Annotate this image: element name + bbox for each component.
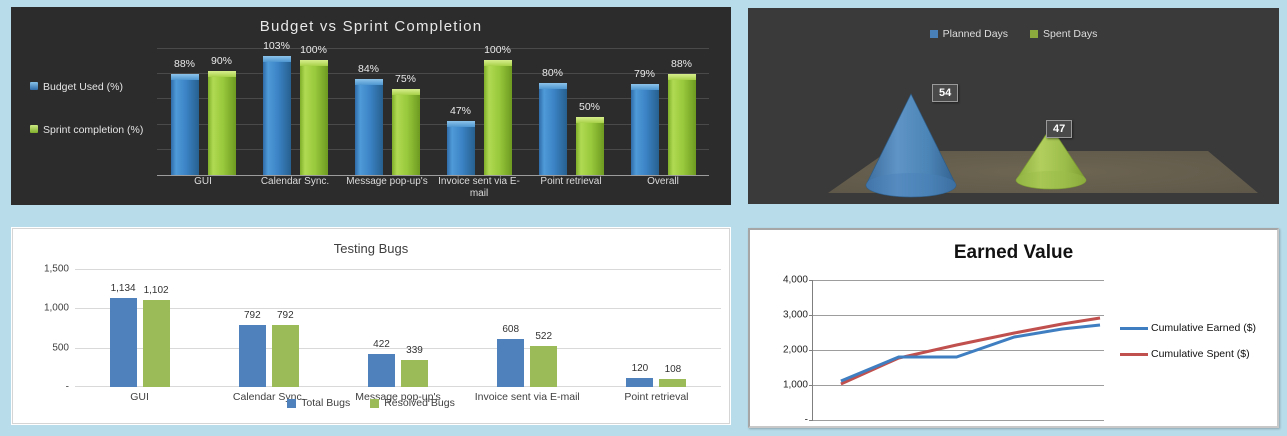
bar-value-label: 522 [535,331,552,342]
bars-budget-vs-sprint: 88% 90% 103% 100% [157,48,709,176]
bars-testing-bugs: 1,134 1,102 792 792 422 [75,269,721,387]
bar-resolved-bugs-calendar-sync[interactable]: 792 [272,325,299,387]
plot-area-budget-vs-sprint: 88% 90% 103% 100% [157,48,709,176]
bar-sprint-completion-message-popups[interactable]: 75% [392,89,420,176]
legend-label-resolved-bugs: Resolved Bugs [384,397,455,409]
legend-label-total-bugs: Total Bugs [301,397,350,409]
bar-budget-used-gui[interactable]: 88% [171,74,199,176]
bar-group-message-popups: 84% 75% [341,48,433,176]
legend-label-budget-used: Budget Used (%) [43,80,123,95]
y-axis-labels-testing-bugs: 1,500 1,000 500 - [21,269,69,387]
chart-title-earned-value: Earned Value [750,230,1277,264]
y-axis-tick: 1,500 [44,264,69,275]
bar-value-label: 88% [671,58,692,70]
chart-panel-earned-value: Earned Value 4,000 3,000 2,000 1,000 - [748,228,1279,428]
legend-item-budget-used[interactable]: Budget Used (%) [30,80,150,95]
bar-group-calendar-sync: 792 792 [204,269,333,387]
y-axis-labels-earned-value: 4,000 3,000 2,000 1,000 - [756,280,808,420]
bar-value-label: 339 [406,345,423,356]
y-axis-tick: 4,000 [783,275,808,286]
x-axis-labels-budget: GUI Calendar Sync. Message pop-up's Invo… [157,176,709,200]
bar-resolved-bugs-message-popups[interactable]: 339 [401,360,428,387]
bar-value-label: 100% [300,44,327,56]
legend-label-cumulative-spent: Cumulative Spent ($) [1151,348,1250,360]
data-label-planned-days: 54 [932,84,958,102]
bar-sprint-completion-calendar-sync[interactable]: 100% [300,60,328,176]
chart-title-testing-bugs: Testing Bugs [13,229,729,256]
bar-budget-used-invoice-sent[interactable]: 47% [447,121,475,176]
legend-swatch-green-icon [30,125,38,133]
x-axis-label: GUI [157,176,249,200]
legend-label-cumulative-earned: Cumulative Earned ($) [1151,322,1256,334]
bar-group-point-retrieval: 120 108 [592,269,721,387]
bar-value-label: 100% [484,44,511,56]
chart-panel-budget-vs-sprint: Budget vs Sprint Completion Budget Used … [12,8,730,204]
bar-sprint-completion-invoice-sent[interactable]: 100% [484,60,512,176]
legend-swatch-blue-icon [287,399,296,408]
bar-value-label: 1,102 [144,285,169,296]
bar-value-label: 103% [263,40,290,52]
bar-total-bugs-point-retrieval[interactable]: 120 [626,378,653,387]
legend-swatch-blue-icon [30,82,38,90]
y-axis-tick: 500 [52,342,69,353]
x-axis-label: Calendar Sync. [249,176,341,200]
bar-budget-used-message-popups[interactable]: 84% [355,79,383,176]
chart-panel-planned-vs-spent-days: Planned Days Spent Days [748,8,1279,204]
bar-group-overall: 79% 88% [617,48,709,176]
legend-label-sprint-completion: Sprint completion (%) [43,123,143,138]
bar-value-label: 792 [277,310,294,321]
bar-total-bugs-message-popups[interactable]: 422 [368,354,395,387]
legend-item-cumulative-spent[interactable]: Cumulative Spent ($) [1120,348,1256,360]
legend-swatch-green-icon [370,399,379,408]
bar-value-label: 422 [373,339,390,350]
bar-group-message-popups: 422 339 [333,269,462,387]
dashboard-root: Budget vs Sprint Completion Budget Used … [0,0,1287,436]
bar-resolved-bugs-gui[interactable]: 1,102 [143,300,170,387]
bar-value-label: 90% [211,55,232,67]
bar-group-gui: 1,134 1,102 [75,269,204,387]
bar-total-bugs-gui[interactable]: 1,134 [110,298,137,387]
bar-value-label: 50% [579,101,600,113]
legend-line-red-icon [1120,353,1148,356]
chart-title-budget-vs-sprint: Budget vs Sprint Completion [12,8,730,35]
x-axis-label: Invoice sent via E-mail [433,176,525,200]
bar-value-label: 88% [174,58,195,70]
bar-value-label: 120 [632,363,649,374]
legend-line-blue-icon [1120,327,1148,330]
bar-resolved-bugs-invoice-sent[interactable]: 522 [530,346,557,387]
plot-area-testing-bugs: 1,134 1,102 792 792 422 [75,269,721,387]
bar-group-gui: 88% 90% [157,48,249,176]
cone-chart-canvas [748,8,1279,204]
line-cumulative-earned [841,325,1100,381]
bar-sprint-completion-overall[interactable]: 88% [668,74,696,176]
bar-value-label: 108 [665,364,682,375]
bar-value-label: 1,134 [111,283,136,294]
y-axis-tick: - [805,415,808,426]
bar-total-bugs-calendar-sync[interactable]: 792 [239,325,266,387]
plot-area-earned-value [812,280,1104,420]
bar-group-point-retrieval: 80% 50% [525,48,617,176]
legend-budget-vs-sprint: Budget Used (%) Sprint completion (%) [30,80,150,166]
x-axis-label: Message pop-up's [341,176,433,200]
bar-value-label: 608 [502,324,519,335]
data-label-spent-days: 47 [1046,120,1072,138]
bar-value-label: 792 [244,310,261,321]
x-axis-label: Overall [617,176,709,200]
bar-budget-used-calendar-sync[interactable]: 103% [263,56,291,176]
bar-value-label: 79% [634,68,655,80]
legend-testing-bugs: Total Bugs Resolved Bugs [13,397,729,409]
bar-value-label: 84% [358,63,379,75]
y-axis-tick: 1,000 [783,380,808,391]
y-axis-tick: 2,000 [783,345,808,356]
legend-earned-value: Cumulative Earned ($) Cumulative Spent (… [1120,322,1256,374]
chart-panel-testing-bugs: Testing Bugs 1,500 1,000 500 - 1,134 1,1… [12,228,730,424]
legend-item-total-bugs[interactable]: Total Bugs [287,397,350,409]
x-axis-label: Point retrieval [525,176,617,200]
legend-item-cumulative-earned[interactable]: Cumulative Earned ($) [1120,322,1256,334]
bar-total-bugs-invoice-sent[interactable]: 608 [497,339,524,387]
bar-value-label: 80% [542,67,563,79]
legend-item-sprint-completion[interactable]: Sprint completion (%) [30,123,150,138]
bar-group-invoice-sent: 47% 100% [433,48,525,176]
y-axis-tick: 1,000 [44,303,69,314]
bar-group-calendar-sync: 103% 100% [249,48,341,176]
legend-item-resolved-bugs[interactable]: Resolved Bugs [370,397,455,409]
bar-budget-used-point-retrieval[interactable]: 80% [539,83,567,176]
line-series-canvas [813,280,1104,420]
bar-value-label: 75% [395,73,416,85]
bar-group-invoice-sent: 608 522 [463,269,592,387]
y-axis-tick: 3,000 [783,310,808,321]
bar-sprint-completion-point-retrieval[interactable]: 50% [576,117,604,176]
y-axis-tick: - [66,382,69,393]
bar-resolved-bugs-point-retrieval[interactable]: 108 [659,379,686,387]
bar-sprint-completion-gui[interactable]: 90% [208,71,236,176]
gridline [813,420,1104,421]
bar-value-label: 47% [450,105,471,117]
bar-budget-used-overall[interactable]: 79% [631,84,659,176]
